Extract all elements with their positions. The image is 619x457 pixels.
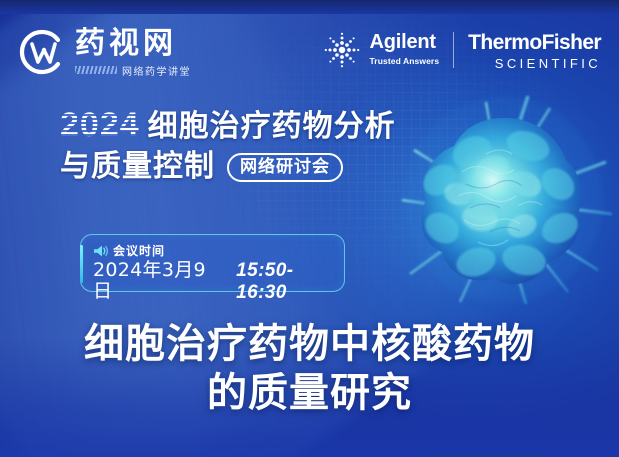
thermofisher-name: ThermoFisher: [468, 32, 601, 53]
meeting-time-box: 会议时间 2024年3月9日 15:50-16:30: [80, 234, 345, 292]
partner-divider: [453, 32, 454, 68]
session-headline-line2: 的质量研究: [0, 369, 619, 418]
site-subtitle: 网络药学讲堂: [122, 63, 191, 78]
webinar-poster: 药视网 网络药学讲堂: [0, 0, 619, 457]
slash-decoration-icon: [75, 66, 117, 74]
poster-header: 药视网 网络药学讲堂: [0, 14, 619, 86]
title-line-1: 2024 细胞治疗药物分析: [60, 108, 460, 143]
site-subtitle-row: 网络药学讲堂: [75, 63, 191, 78]
site-logo[interactable]: 药视网 网络药学讲堂: [14, 26, 191, 78]
meeting-date: 2024年3月9日: [93, 260, 225, 302]
thermofisher-logo[interactable]: ThermoFisher SCIENTIFIC: [468, 22, 601, 71]
site-logo-text: 药视网 网络药学讲堂: [75, 27, 191, 78]
thermofisher-subname: SCIENTIFIC: [468, 56, 601, 71]
webinar-badge: 网络研讨会: [227, 153, 343, 183]
meeting-time-label: 会议时间: [113, 242, 165, 259]
event-year: 2024: [60, 108, 140, 142]
cw-circle-logo-icon: [14, 26, 66, 78]
session-headline: 细胞治疗药物中核酸药物 的质量研究: [0, 320, 619, 418]
megaphone-icon: [93, 244, 108, 258]
event-title-line1: 细胞治疗药物分析: [148, 111, 396, 143]
event-title-line2: 与质量控制: [60, 151, 215, 183]
title-line-2: 与质量控制 网络研讨会: [60, 151, 460, 183]
session-headline-line1: 细胞治疗药物中核酸药物: [0, 320, 619, 369]
time-accent-bar: [80, 245, 83, 283]
agilent-tagline: Trusted Answers: [369, 56, 439, 66]
meeting-time-header: 会议时间: [93, 242, 165, 259]
partner-logos: Agilent Trusted Answers ThermoFisher SCI…: [322, 22, 601, 71]
meeting-time-range: 15:50-16:30: [236, 260, 344, 304]
agilent-starburst-icon: [322, 30, 362, 70]
agilent-name: Agilent: [369, 32, 439, 52]
meeting-time-value: 2024年3月9日 15:50-16:30: [93, 260, 344, 304]
background-top-band: [0, 0, 619, 14]
site-name: 药视网: [75, 29, 191, 59]
agilent-logo[interactable]: Agilent Trusted Answers: [322, 24, 439, 70]
agilent-wordmark: Agilent Trusted Answers: [369, 24, 439, 66]
event-title-block: 2024 细胞治疗药物分析 与质量控制 网络研讨会: [60, 108, 460, 184]
